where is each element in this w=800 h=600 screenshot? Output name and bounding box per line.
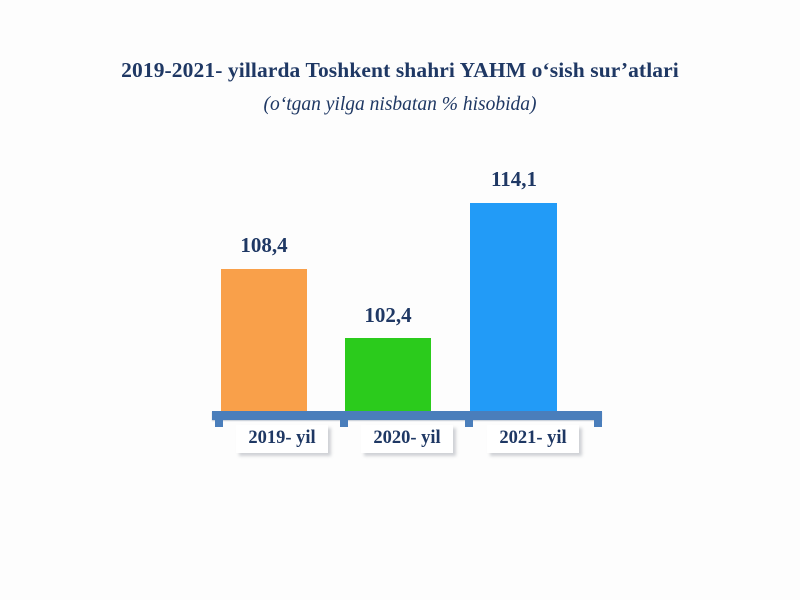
- category-label-2019[interactable]: 2019- yil: [236, 425, 328, 453]
- category-label-2020[interactable]: 2020- yil: [361, 425, 453, 453]
- bar-2021[interactable]: [470, 203, 557, 412]
- bar-2020[interactable]: [345, 338, 431, 412]
- category-label-2021[interactable]: 2021- yil: [487, 425, 579, 453]
- axis-tick-1: [340, 420, 348, 427]
- bar-value-2021: 114,1: [469, 167, 559, 192]
- axis-tick-start: [215, 420, 223, 427]
- axis-tick-2: [465, 420, 473, 427]
- bar-value-2019: 108,4: [219, 233, 309, 258]
- chart-root: 2019-2021- yillarda Toshkent shahri YAHM…: [0, 0, 800, 600]
- bar-2019[interactable]: [221, 269, 307, 412]
- axis-tick-end: [594, 420, 602, 427]
- x-axis-line: [212, 411, 602, 420]
- plot-area: 108,4 102,4 114,1 2019- yil 2020- yil 20…: [0, 0, 800, 600]
- bar-value-2020: 102,4: [343, 303, 433, 328]
